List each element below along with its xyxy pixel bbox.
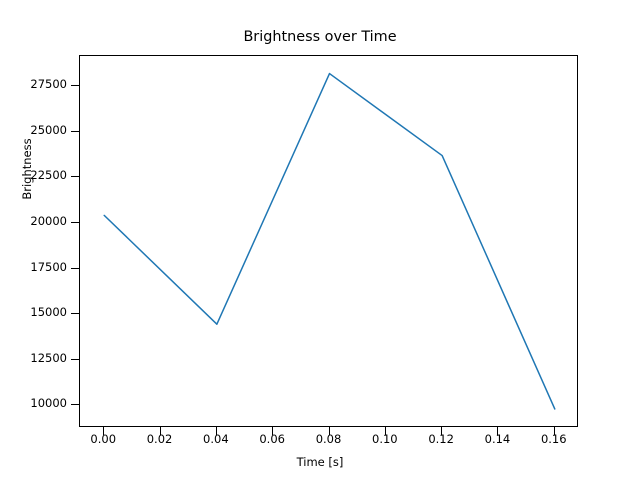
y-tick-mark (71, 131, 79, 132)
chart-title: Brightness over Time (0, 29, 640, 45)
y-tick-mark (71, 85, 79, 86)
y-tick-mark (71, 404, 79, 405)
y-tick-label: 15000 (0, 307, 67, 319)
y-tick-label: 10000 (0, 398, 67, 410)
y-tick-label: 17500 (0, 262, 67, 274)
y-tick-label: 12500 (0, 353, 67, 365)
plot-axes (79, 55, 578, 427)
brightness-line (104, 74, 555, 409)
y-tick-mark (71, 268, 79, 269)
figure-canvas: Brightness over Time Brightness Time [s]… (0, 0, 640, 480)
x-tick-label: 0.16 (514, 434, 594, 446)
y-tick-label: 27500 (0, 79, 67, 91)
y-tick-mark (71, 222, 79, 223)
line-series-svg (80, 56, 579, 428)
y-tick-mark (71, 359, 79, 360)
y-tick-mark (71, 313, 79, 314)
y-tick-label: 22500 (0, 170, 67, 182)
y-tick-label: 25000 (0, 125, 67, 137)
y-tick-mark (71, 176, 79, 177)
x-axis-label: Time [s] (0, 455, 640, 469)
y-tick-label: 20000 (0, 216, 67, 228)
